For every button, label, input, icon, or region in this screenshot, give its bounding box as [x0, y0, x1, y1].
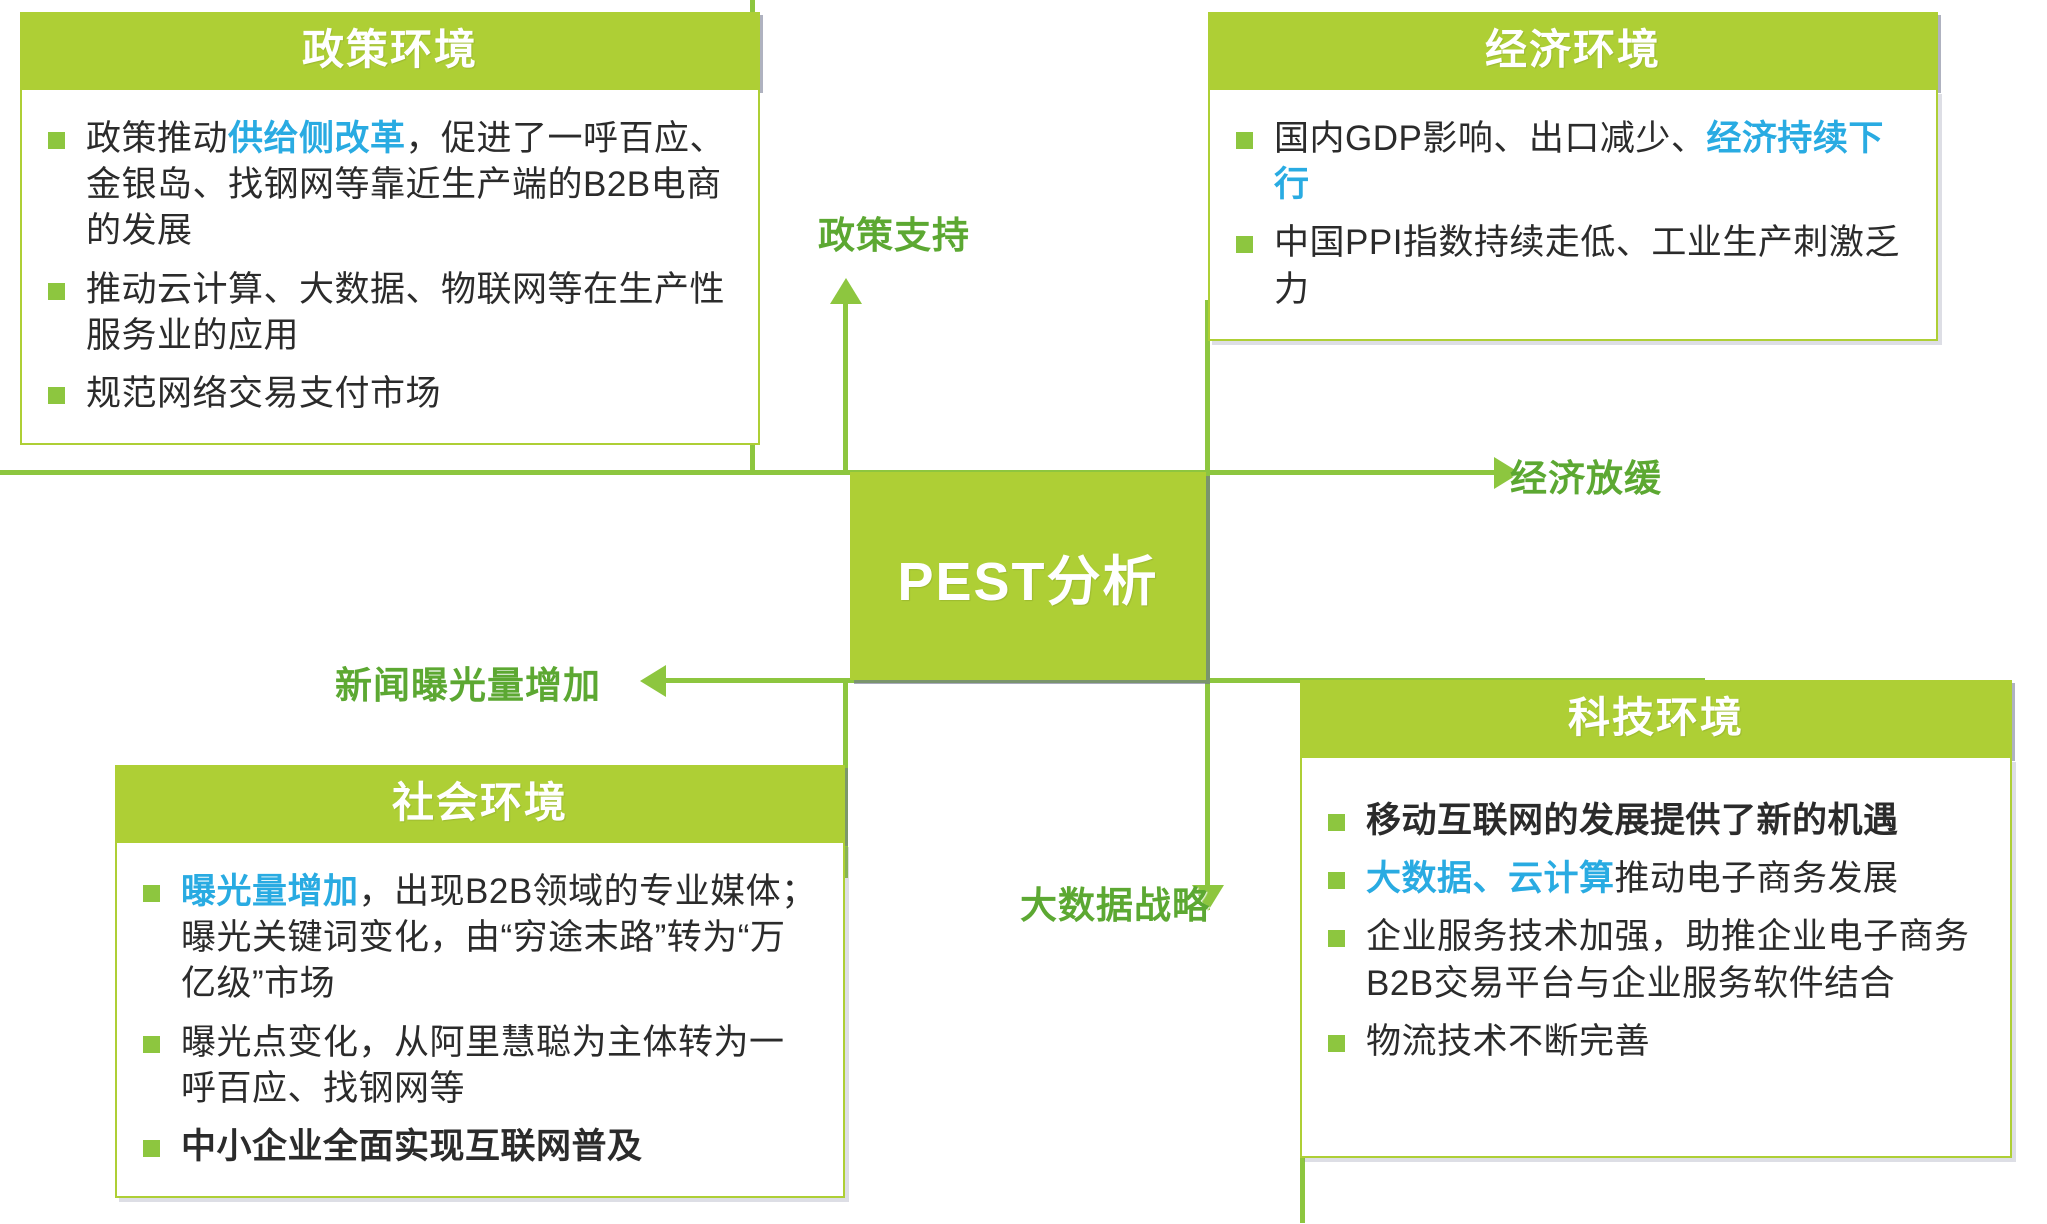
- panel-technological-body: 移动互联网的发展提供了新的机遇 大数据、云计算推动电子商务发展 企业服务技术加强…: [1300, 758, 2012, 1158]
- arrow-label-news-exposure: 新闻曝光量增加: [335, 655, 601, 709]
- arrow-label-text: 大数据战略: [1020, 885, 1210, 926]
- bullet-square-icon: [1236, 132, 1253, 149]
- panel-economic-body: 国内GDP影响、出口减少、经济持续下行 中国PPI指数持续走低、工业生产刺激乏力: [1208, 90, 1938, 341]
- bullet-text-highlight: 移动互联网的发展提供了新的机遇: [1366, 801, 1899, 840]
- panel-economic-title: 经济环境: [1485, 26, 1661, 73]
- list-item: 大数据、云计算推动电子商务发展: [1322, 856, 1984, 902]
- bullet-text: 政策推动: [86, 119, 228, 158]
- panel-political-header: 政策环境: [20, 12, 760, 90]
- bullet-square-icon: [143, 885, 160, 902]
- panel-political-body: 政策推动供给侧改革，促进了一呼百应、金银岛、找钢网等靠近生产端的B2B电商的发展…: [20, 90, 760, 445]
- center-pest-title: PEST分析: [897, 537, 1158, 616]
- bullet-square-icon: [143, 1140, 160, 1157]
- bullet-text-highlight: 中小企业全面实现互联网普及: [181, 1127, 643, 1166]
- panel-economic-header: 经济环境: [1208, 12, 1938, 90]
- panel-economic-bullet-list: 国内GDP影响、出口减少、经济持续下行 中国PPI指数持续走低、工业生产刺激乏力: [1230, 116, 1910, 313]
- bullet-text-highlight: 供给侧改革: [228, 119, 406, 158]
- list-item: 企业服务技术加强，助推企业电子商务B2B交易平台与企业服务软件结合: [1322, 914, 1984, 1006]
- panel-technological-bullet-list: 移动互联网的发展提供了新的机遇 大数据、云计算推动电子商务发展 企业服务技术加强…: [1322, 798, 1984, 1065]
- arrow-up-icon: [830, 278, 862, 304]
- bullet-square-icon: [1328, 1035, 1345, 1052]
- arrow-label-big-data-strategy: 大数据战略: [1020, 875, 1210, 929]
- list-item: 中小企业全面实现互联网普及: [137, 1124, 817, 1170]
- arrow-left-icon: [640, 665, 666, 697]
- panel-technological-header: 科技环境: [1300, 680, 2012, 758]
- arrow-label-economic-slowdown: 经济放缓: [1510, 448, 1662, 502]
- connector-line-policy-support: [843, 300, 848, 475]
- arrow-label-policy-support: 政策支持: [818, 205, 970, 259]
- panel-social-title: 社会环境: [392, 779, 568, 826]
- list-item: 移动互联网的发展提供了新的机遇: [1322, 798, 1984, 844]
- bullet-square-icon: [1236, 236, 1253, 253]
- list-item: 物流技术不断完善: [1322, 1019, 1984, 1065]
- bullet-text-highlight: 大数据、云计算: [1366, 859, 1615, 898]
- bullet-square-icon: [143, 1036, 160, 1053]
- panel-political: 政策环境 政策推动供给侧改革，促进了一呼百应、金银岛、找钢网等靠近生产端的B2B…: [20, 12, 760, 445]
- list-item: 国内GDP影响、出口减少、经济持续下行: [1230, 116, 1910, 208]
- bullet-text-highlight: 曝光量增加: [181, 872, 359, 911]
- arrow-label-text: 政策支持: [818, 215, 970, 256]
- bullet-square-icon: [48, 387, 65, 404]
- bullet-text: 曝光点变化，从阿里慧聪为主体转为一呼百应、找钢网等: [181, 1023, 785, 1108]
- panel-social-header: 社会环境: [115, 765, 845, 843]
- pest-analysis-diagram: PEST分析 政策环境 政策推动供给侧改革，促进了一呼百应、金银岛、找钢网等靠近…: [0, 0, 2047, 1224]
- panel-economic: 经济环境 国内GDP影响、出口减少、经济持续下行 中国PPI指数持续走低、工业生…: [1208, 12, 1938, 341]
- panel-technological-title: 科技环境: [1568, 694, 1744, 741]
- panel-political-bullet-list: 政策推动供给侧改革，促进了一呼百应、金银岛、找钢网等靠近生产端的B2B电商的发展…: [42, 116, 732, 417]
- list-item: 推动云计算、大数据、物联网等在生产性服务业的应用: [42, 267, 732, 359]
- bullet-text: 推动电子商务发展: [1615, 859, 1899, 898]
- bullet-text: 推动云计算、大数据、物联网等在生产性服务业的应用: [86, 270, 725, 355]
- list-item: 政策推动供给侧改革，促进了一呼百应、金银岛、找钢网等靠近生产端的B2B电商的发展: [42, 116, 732, 255]
- bullet-text: 中国PPI指数持续走低、工业生产刺激乏力: [1274, 223, 1900, 308]
- list-item: 中国PPI指数持续走低、工业生产刺激乏力: [1230, 220, 1910, 312]
- list-item: 曝光量增加，出现B2B领域的专业媒体；曝光关键词变化，由“穷途末路”转为“万亿级…: [137, 869, 817, 1008]
- bullet-square-icon: [1328, 930, 1345, 947]
- bullet-text: 企业服务技术加强，助推企业电子商务B2B交易平台与企业服务软件结合: [1366, 917, 1970, 1002]
- bullet-text: 规范网络交易支付市场: [86, 374, 441, 413]
- bullet-square-icon: [48, 283, 65, 300]
- list-item: 曝光点变化，从阿里慧聪为主体转为一呼百应、找钢网等: [137, 1020, 817, 1112]
- bullet-text: 物流技术不断完善: [1366, 1022, 1650, 1061]
- panel-social-bullet-list: 曝光量增加，出现B2B领域的专业媒体；曝光关键词变化，由“穷途末路”转为“万亿级…: [137, 869, 817, 1170]
- panel-political-title: 政策环境: [302, 26, 478, 73]
- bullet-square-icon: [1328, 814, 1345, 831]
- arrow-label-text: 新闻曝光量增加: [335, 665, 601, 706]
- bullet-text: 国内GDP影响、出口减少、: [1274, 119, 1706, 158]
- panel-technological: 科技环境 移动互联网的发展提供了新的机遇 大数据、云计算推动电子商务发展 企业服…: [1300, 680, 2012, 1158]
- list-item: 规范网络交易支付市场: [42, 371, 732, 417]
- panel-social-body: 曝光量增加，出现B2B领域的专业媒体；曝光关键词变化，由“穷途末路”转为“万亿级…: [115, 843, 845, 1198]
- center-pest-box: PEST分析: [850, 472, 1206, 680]
- bullet-square-icon: [48, 132, 65, 149]
- panel-social: 社会环境 曝光量增加，出现B2B领域的专业媒体；曝光关键词变化，由“穷途末路”转…: [115, 765, 845, 1198]
- bullet-square-icon: [1328, 872, 1345, 889]
- arrow-label-text: 经济放缓: [1510, 458, 1662, 499]
